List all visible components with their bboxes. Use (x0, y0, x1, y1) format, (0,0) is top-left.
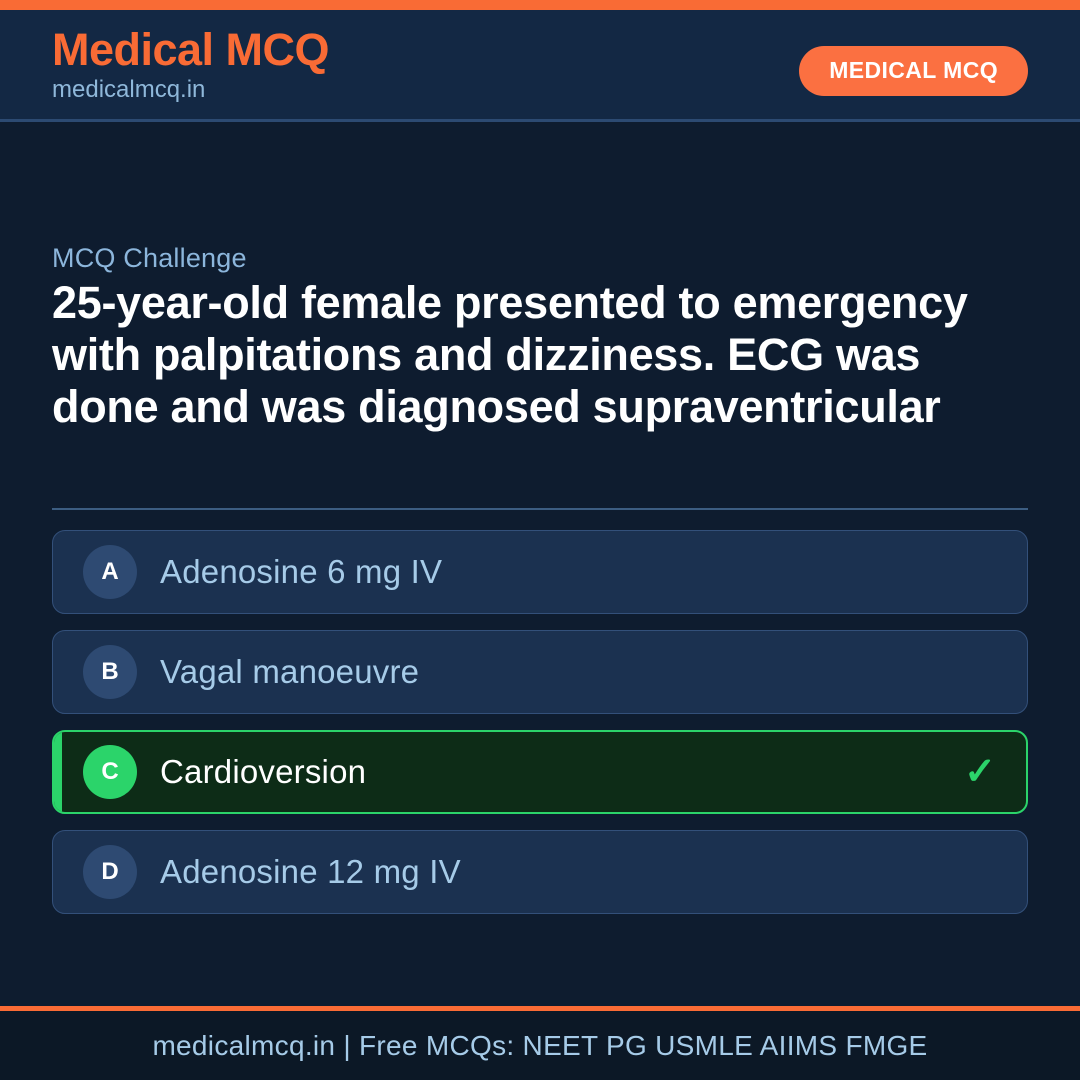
option-label-c: Cardioversion (160, 753, 366, 791)
option-badge-a: A (83, 545, 137, 599)
correct-accent-bar (54, 732, 62, 812)
option-card-b[interactable]: B Vagal manoeuvre (52, 630, 1028, 714)
header-badge: MEDICAL MCQ (799, 46, 1028, 96)
option-label-d: Adenosine 12 mg IV (160, 853, 461, 891)
option-card-d[interactable]: D Adenosine 12 mg IV (52, 830, 1028, 914)
page-footer: medicalmcq.in | Free MCQs: NEET PG USMLE… (0, 1006, 1080, 1080)
option-badge-d: D (83, 845, 137, 899)
option-badge-b: B (83, 645, 137, 699)
challenge-label: MCQ Challenge (52, 243, 247, 274)
brand-block: Medical MCQ medicalmcq.in (52, 26, 329, 104)
option-label-b: Vagal manoeuvre (160, 653, 419, 691)
options-list: A Adenosine 6 mg IV B Vagal manoeuvre C … (52, 530, 1028, 930)
option-label-a: Adenosine 6 mg IV (160, 553, 442, 591)
page-header: Medical MCQ medicalmcq.in MEDICAL MCQ (0, 10, 1080, 122)
option-card-c[interactable]: C Cardioversion ✓ (52, 730, 1028, 814)
top-accent-bar (0, 0, 1080, 10)
checkmark-icon: ✓ (964, 753, 996, 791)
question-text: 25-year-old female presented to emergenc… (52, 277, 1032, 434)
main-content: MCQ Challenge 25-year-old female present… (0, 125, 1080, 1005)
option-card-a[interactable]: A Adenosine 6 mg IV (52, 530, 1028, 614)
question-divider (52, 508, 1028, 510)
footer-text: medicalmcq.in | Free MCQs: NEET PG USMLE… (152, 1030, 927, 1062)
brand-url: medicalmcq.in (52, 77, 329, 103)
brand-title: Medical MCQ (52, 26, 329, 73)
option-badge-c: C (83, 745, 137, 799)
